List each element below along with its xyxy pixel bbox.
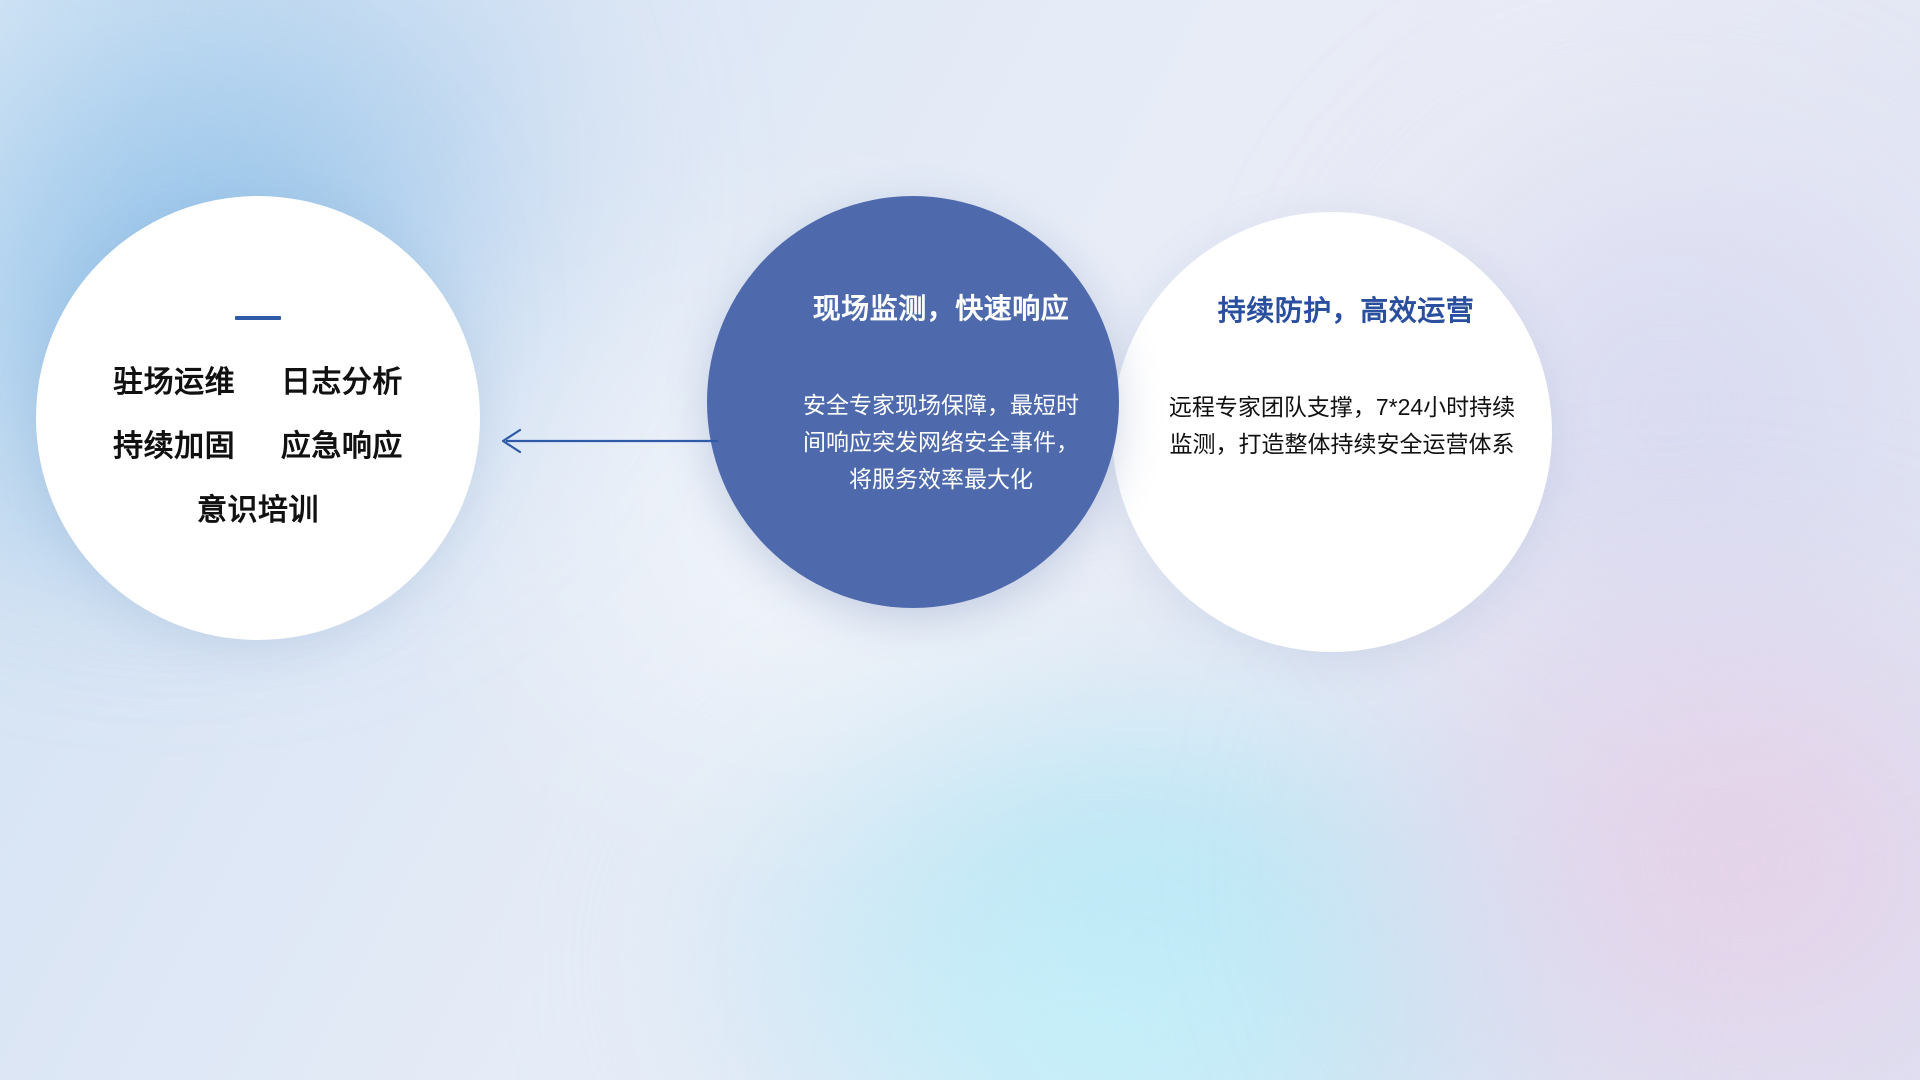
onsite-monitoring-body: 安全专家现场保障，最短时间响应突发网络安全事件，将服务效率最大化 — [796, 387, 1086, 499]
capability-item-log-analysis: 日志分析 — [281, 366, 403, 399]
slide-canvas: 持续防护，高效运营 远程专家团队支撑，7*24小时持续监测，打造整体持续安全运营… — [0, 0, 1920, 1080]
continuous-protection-content: 持续防护，高效运营 远程专家团队支撑，7*24小时持续监测，打造整体持续安全运营… — [1112, 212, 1552, 652]
onsite-monitoring-circle[interactable]: 现场监测，快速响应 安全专家现场保障，最短时间响应突发网络安全事件，将服务效率最… — [707, 196, 1119, 608]
capability-circle[interactable]: 驻场运维 日志分析 持续加固 应急响应 意识培训 — [36, 196, 480, 640]
accent-dash-icon — [235, 316, 281, 320]
continuous-protection-title: 持续防护，高效运营 — [1218, 296, 1475, 327]
capability-item-continuous-hardening: 持续加固 — [113, 430, 235, 463]
flow-arrow-left — [490, 418, 720, 464]
onsite-monitoring-content: 现场监测，快速响应 安全专家现场保障，最短时间响应突发网络安全事件，将服务效率最… — [707, 196, 1119, 608]
capability-line-1: 驻场运维 日志分析 — [113, 368, 403, 398]
onsite-monitoring-title: 现场监测，快速响应 — [813, 294, 1070, 325]
capability-line-3: 意识培训 — [197, 496, 319, 526]
capability-item-onsite-ops: 驻场运维 — [113, 366, 235, 399]
capability-line-2: 持续加固 应急响应 — [113, 432, 403, 462]
continuous-protection-body: 远程专家团队支撑，7*24小时持续监测，打造整体持续安全运营体系 — [1166, 389, 1518, 464]
capability-content: 驻场运维 日志分析 持续加固 应急响应 意识培训 — [36, 196, 480, 640]
capability-item-awareness-training: 意识培训 — [197, 494, 319, 527]
continuous-protection-circle[interactable]: 持续防护，高效运营 远程专家团队支撑，7*24小时持续监测，打造整体持续安全运营… — [1112, 212, 1552, 652]
capability-item-emergency-response: 应急响应 — [281, 430, 403, 463]
